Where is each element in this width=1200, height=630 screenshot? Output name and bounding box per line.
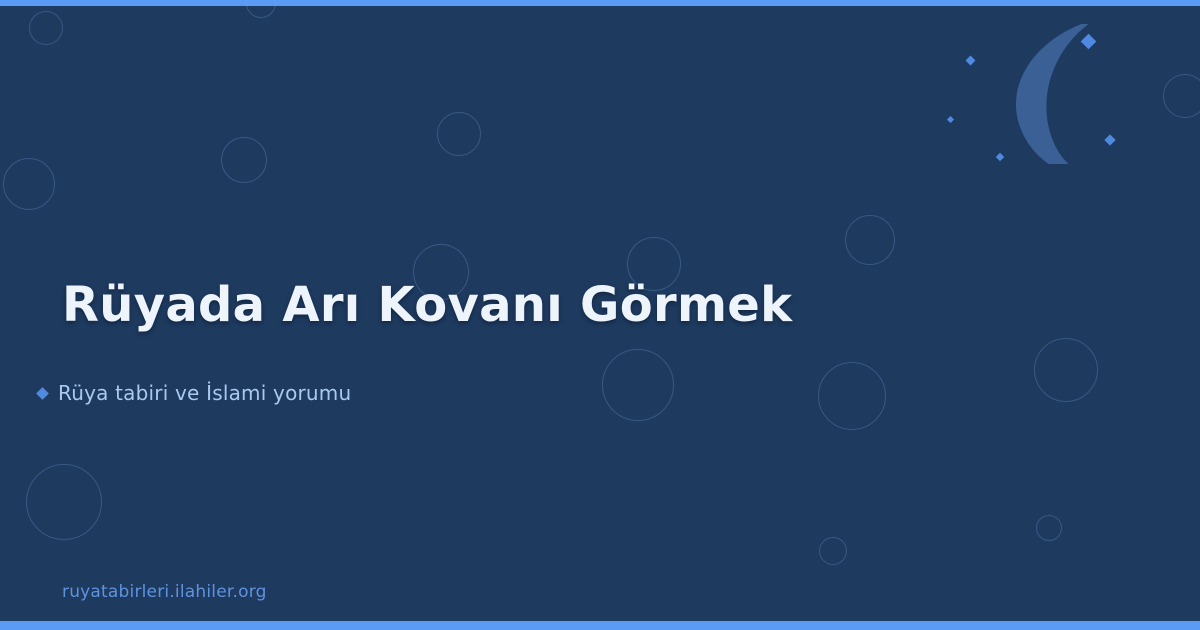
page-title: Rüyada Arı Kovanı Görmek — [62, 277, 792, 333]
bottom-accent-bar — [0, 621, 1200, 630]
social-share-card: Rüyada Arı Kovanı Görmek Rüya tabiri ve … — [0, 0, 1200, 630]
site-url-label[interactable]: ruyatabirleri.ilahiler.org — [62, 582, 267, 602]
diamond-bullet-icon — [36, 387, 49, 400]
subtitle-row: Rüya tabiri ve İslami yorumu — [38, 381, 351, 405]
card-content: Rüyada Arı Kovanı Görmek Rüya tabiri ve … — [0, 0, 1200, 630]
page-subtitle: Rüya tabiri ve İslami yorumu — [58, 381, 351, 405]
